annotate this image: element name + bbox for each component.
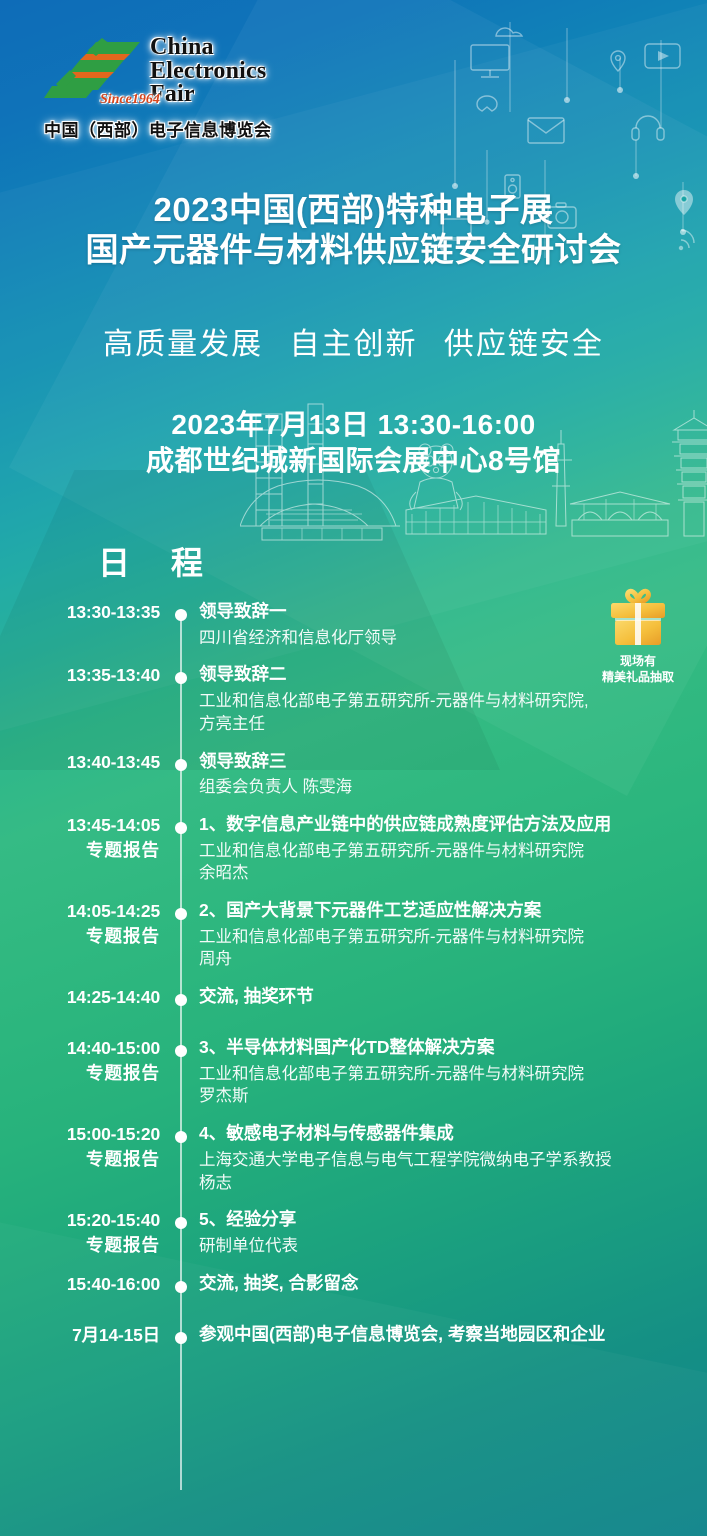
agenda-row-title: 3、半导体材料国产化TD整体解决方案 (199, 1036, 693, 1060)
agenda-row-title: 领导致辞二 (199, 663, 693, 687)
agenda-row: 7月14-15日参观中国(西部)电子信息博览会, 考察当地园区和企业 (0, 1323, 707, 1348)
slogan-part-1: 高质量发展 (103, 328, 263, 361)
agenda-row-time: 14:25-14:40 (0, 985, 160, 1010)
agenda-row: 13:35-13:40领导致辞二工业和信息化部电子第五研究所-元器件与材料研究院… (0, 663, 707, 735)
agenda-row-title: 领导致辞三 (199, 750, 693, 774)
logo-chinese-name: 中国（西部）电子信息博览会 (44, 116, 296, 141)
agenda-row-time-subtitle: 专题报告 (0, 924, 160, 949)
agenda-row-time-range: 13:45-14:05 (0, 813, 160, 838)
slogan-part-3: 供应链安全 (444, 328, 604, 361)
logo-since-text: Since1964 (100, 92, 160, 108)
agenda-row-description: 工业和信息化部电子第五研究所-元器件与材料研究院罗杰斯 (199, 1063, 693, 1109)
agenda-row-title: 5、经验分享 (199, 1208, 693, 1232)
agenda-row-title: 1、数字信息产业链中的供应链成熟度评估方法及应用 (199, 813, 693, 837)
agenda-row-description: 工业和信息化部电子第五研究所-元器件与材料研究院周舟 (199, 926, 693, 972)
agenda-row-time-range: 14:40-15:00 (0, 1036, 160, 1061)
agenda-row-body: 1、数字信息产业链中的供应链成熟度评估方法及应用工业和信息化部电子第五研究所-元… (199, 813, 707, 885)
hero-title-line2: 国产元器件与材料供应链安全研讨会 (0, 230, 707, 270)
agenda-row-body: 5、经验分享研制单位代表 (199, 1208, 707, 1257)
agenda-row-time: 15:40-16:00 (0, 1272, 160, 1297)
agenda-row: 14:05-14:25专题报告2、国产大背景下元器件工艺适应性解决方案工业和信息… (0, 899, 707, 971)
agenda-row-time-range: 14:05-14:25 (0, 899, 160, 924)
agenda-row-time-subtitle: 专题报告 (0, 1233, 160, 1258)
agenda-row-time: 15:20-15:40专题报告 (0, 1208, 160, 1258)
agenda-row-time: 15:00-15:20专题报告 (0, 1122, 160, 1172)
agenda-row-description: 上海交通大学电子信息与电气工程学院微纳电子学系教授杨志 (199, 1149, 693, 1195)
timeline-dot (175, 822, 187, 834)
agenda-row-time: 13:30-13:35 (0, 600, 160, 625)
logo-line-fair: Fair (150, 83, 266, 107)
agenda-row: 14:25-14:40交流, 抽奖环节 (0, 985, 707, 1010)
agenda-row-time-range: 15:00-15:20 (0, 1122, 160, 1147)
agenda-row-time: 13:40-13:45 (0, 750, 160, 775)
monitor-icon (471, 45, 509, 77)
agenda-row-time-range: 15:40-16:00 (0, 1272, 160, 1297)
cloud-icon (496, 28, 522, 36)
agenda-row-time-range: 14:25-14:40 (0, 985, 160, 1010)
hero-datetime: 2023年7月13日 13:30-16:00 (0, 407, 707, 444)
agenda-row-title: 交流, 抽奖环节 (199, 985, 693, 1009)
agenda-row-description: 工业和信息化部电子第五研究所-元器件与材料研究院余昭杰 (199, 840, 693, 886)
slogan-part-2: 自主创新 (290, 328, 418, 361)
envelope-icon (528, 118, 564, 143)
timeline-dot (175, 672, 187, 684)
hero-venue: 成都世纪城新国际会展中心8号馆 (0, 443, 707, 480)
agenda-row-title: 4、敏感电子材料与传感器件集成 (199, 1122, 693, 1146)
agenda-row-body: 领导致辞三组委会负责人 陈雯海 (199, 750, 707, 799)
timeline-dot (175, 1281, 187, 1293)
hero-title-line1: 2023中国(西部)特种电子展 (0, 190, 707, 230)
hero-slogan: 高质量发展 自主创新 供应链安全 (0, 319, 707, 363)
play-button-icon (645, 44, 680, 68)
timeline-dot (175, 609, 187, 621)
hero-datetime-venue: 2023年7月13日 13:30-16:00 成都世纪城新国际会展中心8号馆 (0, 407, 707, 481)
logo-line-china: China (150, 36, 266, 60)
agenda-row: 15:00-15:20专题报告4、敏感电子材料与传感器件集成上海交通大学电子信息… (0, 1122, 707, 1194)
agenda-timeline: 13:30-13:35领导致辞一四川省经济和信息化厅领导13:35-13:40领… (0, 600, 707, 1374)
agenda-row-description: 组委会负责人 陈雯海 (199, 776, 693, 799)
agenda-row-title: 2、国产大背景下元器件工艺适应性解决方案 (199, 899, 693, 923)
timeline-dot (175, 759, 187, 771)
agenda-row: 13:40-13:45领导致辞三组委会负责人 陈雯海 (0, 750, 707, 799)
agenda-row-description: 四川省经济和信息化厅领导 (199, 627, 693, 650)
agenda-row-description: 研制单位代表 (199, 1235, 693, 1258)
hero-section: 2023中国(西部)特种电子展 国产元器件与材料供应链安全研讨会 高质量发展 自… (0, 190, 707, 480)
agenda-row: 14:40-15:00专题报告3、半导体材料国产化TD整体解决方案工业和信息化部… (0, 1036, 707, 1108)
agenda-row-time: 14:05-14:25专题报告 (0, 899, 160, 949)
logo-line-electronics: Electronics (150, 60, 266, 84)
headphones-icon (632, 116, 664, 140)
agenda-row-time-subtitle: 专题报告 (0, 1061, 160, 1086)
timeline-dot (175, 994, 187, 1006)
agenda-row-time-range: 7月14-15日 (0, 1323, 160, 1348)
agenda-row-time: 13:35-13:40 (0, 663, 160, 688)
agenda-row-time-range: 13:30-13:35 (0, 600, 160, 625)
timeline-dot (175, 1332, 187, 1344)
agenda-row-time-range: 13:35-13:40 (0, 663, 160, 688)
agenda-row-title: 参观中国(西部)电子信息博览会, 考察当地园区和企业 (199, 1323, 693, 1347)
agenda-row-time-range: 13:40-13:45 (0, 750, 160, 775)
agenda-row-time-subtitle: 专题报告 (0, 838, 160, 863)
agenda-row-title: 交流, 抽奖, 合影留念 (199, 1272, 693, 1296)
agenda-row-title: 领导致辞一 (199, 600, 693, 624)
agenda-row-time: 7月14-15日 (0, 1323, 160, 1348)
gamepad-icon (477, 96, 497, 111)
map-pin-icon (611, 51, 625, 71)
agenda-row-body: 参观中国(西部)电子信息博览会, 考察当地园区和企业 (199, 1323, 707, 1347)
timeline-dot (175, 1131, 187, 1143)
agenda-row-body: 领导致辞二工业和信息化部电子第五研究所-元器件与材料研究院,方亮主任 (199, 663, 707, 735)
agenda-row-description: 工业和信息化部电子第五研究所-元器件与材料研究院,方亮主任 (199, 690, 693, 736)
timeline-dot (175, 908, 187, 920)
agenda-row-body: 2、国产大背景下元器件工艺适应性解决方案工业和信息化部电子第五研究所-元器件与材… (199, 899, 707, 971)
agenda-row-body: 4、敏感电子材料与传感器件集成上海交通大学电子信息与电气工程学院微纳电子学系教授… (199, 1122, 707, 1194)
agenda-row: 13:30-13:35领导致辞一四川省经济和信息化厅领导 (0, 600, 707, 649)
agenda-row-body: 交流, 抽奖环节 (199, 985, 707, 1009)
agenda-row: 15:40-16:00交流, 抽奖, 合影留念 (0, 1272, 707, 1297)
logo: China Electronics Fair Since1964 中国（西部）电… (44, 36, 296, 146)
agenda-row-time: 13:45-14:05专题报告 (0, 813, 160, 863)
agenda-row-time-range: 15:20-15:40 (0, 1208, 160, 1233)
timeline-dot (175, 1217, 187, 1229)
agenda-row: 15:20-15:40专题报告5、经验分享研制单位代表 (0, 1208, 707, 1258)
agenda-row: 13:45-14:05专题报告1、数字信息产业链中的供应链成熟度评估方法及应用工… (0, 813, 707, 885)
agenda-row-body: 领导致辞一四川省经济和信息化厅领导 (199, 600, 707, 649)
agenda-row-body: 交流, 抽奖, 合影留念 (199, 1272, 707, 1296)
agenda-heading: 日 程 (98, 538, 219, 584)
agenda-row-time: 14:40-15:00专题报告 (0, 1036, 160, 1086)
poster-root: China Electronics Fair Since1964 中国（西部）电… (0, 0, 707, 1536)
agenda-row-body: 3、半导体材料国产化TD整体解决方案工业和信息化部电子第五研究所-元器件与材料研… (199, 1036, 707, 1108)
agenda-row-time-subtitle: 专题报告 (0, 1147, 160, 1172)
timeline-dot (175, 1045, 187, 1057)
